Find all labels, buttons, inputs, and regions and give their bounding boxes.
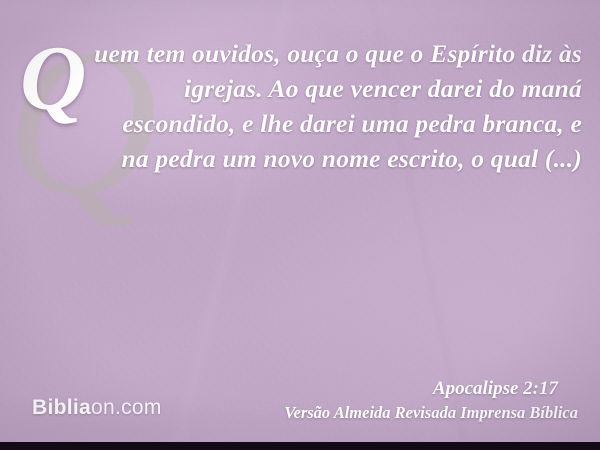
logo-bold-text: Biblia	[32, 396, 91, 419]
verse-image-card: Q Quem tem ouvidos, ouça o que o Espírit…	[0, 0, 600, 450]
footer: Bibliaon.com Apocalipse 2:17 Versão Alme…	[0, 378, 600, 438]
verse-body-text: uem tem ouvidos, ouça o que o Espírito d…	[94, 39, 582, 173]
bibliaon-logo[interactable]: Bibliaon.com	[32, 396, 162, 420]
bottom-bar	[0, 442, 600, 450]
verse-reference: Apocalipse 2:17	[433, 378, 558, 400]
logo-light-text: on.com	[91, 396, 162, 419]
bible-version-label: Versão Almeida Revisada Imprensa Bíblica	[284, 403, 578, 423]
verse-drop-cap: Q	[20, 42, 87, 116]
verse-text-block: Quem tem ouvidos, ouça o que o Espírito …	[20, 36, 582, 176]
